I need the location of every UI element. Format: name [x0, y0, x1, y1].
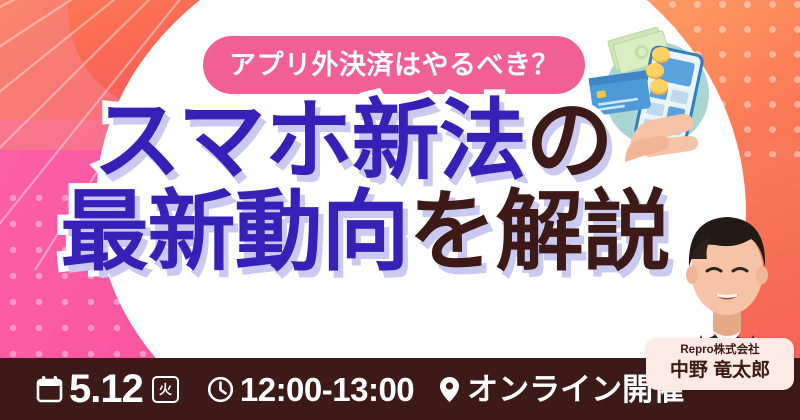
- speaker-name: 中野 竜太郎: [650, 359, 790, 383]
- clock-icon: [207, 376, 234, 403]
- tagline-text: アプリ外決済はやるべき？: [229, 52, 559, 79]
- event-time: 12:00-13:00: [240, 373, 414, 406]
- tagline-pill: アプリ外決済はやるべき？: [203, 36, 585, 94]
- location-pin-icon: [438, 375, 461, 404]
- event-date: 5.12: [69, 369, 143, 409]
- event-date-group: 5.12 火: [36, 369, 179, 409]
- event-day-of-week: 火: [152, 376, 179, 403]
- event-time-group: 12:00-13:00: [207, 373, 414, 406]
- webinar-banner: アプリ外決済はやるべき？: [0, 0, 800, 420]
- speaker-badge: Repro株式会社 中野 竜太郎: [646, 338, 794, 390]
- calendar-icon: [36, 375, 63, 404]
- hand-holding-smartphone-icon: [585, 22, 720, 162]
- speaker-company: Repro株式会社: [650, 343, 790, 358]
